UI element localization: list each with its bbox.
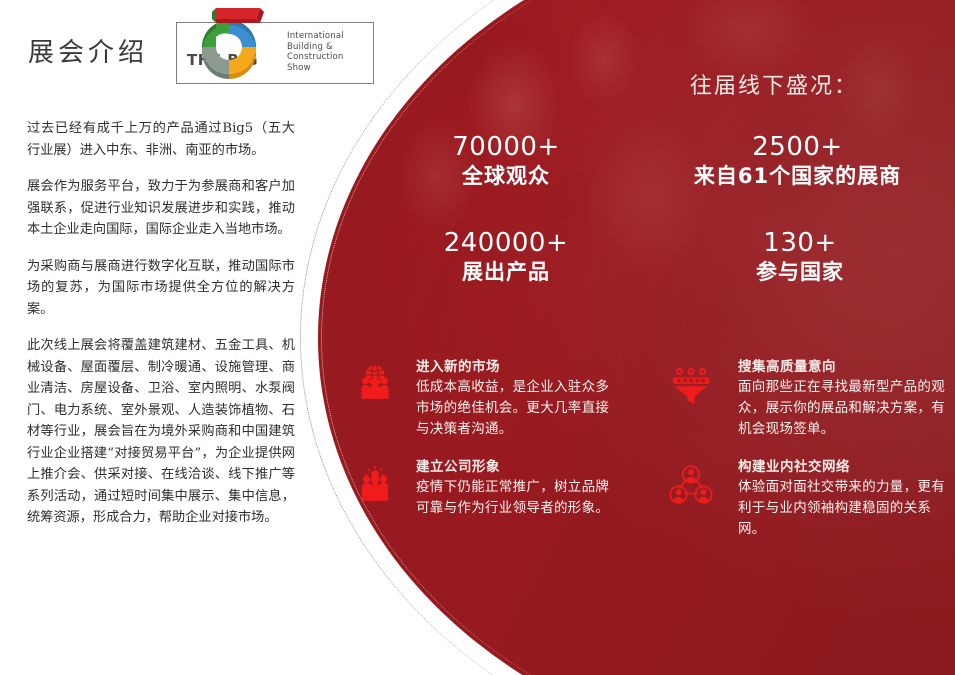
funnel-icon (668, 362, 714, 408)
stat-products: 240000+ 展出产品 (408, 228, 604, 286)
stat-countries: 130+ 参与国家 (660, 228, 940, 286)
stat-label: 参与国家 (660, 258, 940, 286)
stat-number: 240000+ (408, 228, 604, 258)
slide-canvas: 往届线下盛况： 70000+ 全球观众 2500+ 来自61个国家的展商 240… (0, 0, 955, 675)
logo-tagline-line: International (287, 31, 373, 42)
stat-label: 展出产品 (408, 258, 604, 286)
stat-exhibitors: 2500+ 来自61个国家的展商 (640, 132, 955, 190)
benefit-text: 进入新的市场 低成本高收益，是企业入驻众多市场的绝佳机会。更大几率直接与决策者沟… (416, 358, 614, 440)
big5-numeral-logo-icon (186, 4, 272, 84)
intro-body: 过去已经有成千上万的产品通过Big5（五大行业展）进入中东、非洲、南亚的市场。 … (27, 118, 295, 529)
benefit-title: 建立公司形象 (416, 458, 614, 477)
benefit-title: 搜集高质量意向 (738, 358, 954, 377)
benefit-text: 建立公司形象 疫情下仍能正常推广，树立品牌可靠与作为行业领导者的形象。 (416, 458, 614, 519)
benefit-desc: 体验面对面社交带来的力量，更有 利于与业内领袖构建稳固的关系 网。 (738, 477, 954, 540)
benefit-title: 构建业内社交网络 (738, 458, 954, 477)
intro-paragraph: 展会作为服务平台，致力于为参展商和客户加 强联系，促进行业知识发展进步和实践，推… (27, 176, 295, 241)
stat-label: 全球观众 (408, 162, 604, 190)
stat-number: 70000+ (408, 132, 604, 162)
intro-paragraph: 此次线上展会将覆盖建筑建材、五金工具、机械设备、屋面覆层、制冷暖通、设施管理、商… (27, 335, 295, 529)
logo-tagline-line: Building & (287, 42, 373, 53)
logo-tagline-line: Show (287, 63, 373, 74)
logo-tagline: International Building & Construction Sh… (287, 31, 373, 73)
stat-label: 来自61个国家的展商 (640, 162, 955, 190)
benefit-desc: 低成本高收益，是企业入驻众多市场的绝佳机会。更大几率直接与决策者沟通。 (416, 377, 614, 440)
benefit-text: 构建业内社交网络 体验面对面社交带来的力量，更有 利于与业内领袖构建稳固的关系 … (738, 458, 954, 540)
benefit-desc: 面向那些正在寻找最新型产品的观 众，展示你的展品和解决方案，有 机会现场签单。 (738, 377, 954, 440)
benefit-text: 搜集高质量意向 面向那些正在寻找最新型产品的观 众，展示你的展品和解决方案，有 … (738, 358, 954, 440)
intro-paragraph: 为采购商与展商进行数字化互联，推动国际市场的复苏，为国际市场提供全方位的解决方案… (27, 256, 295, 321)
benefit-desc: 疫情下仍能正常推广，树立品牌可靠与作为行业领导者的形象。 (416, 477, 614, 519)
stat-global-visitors: 70000+ 全球观众 (408, 132, 604, 190)
intro-panel: 展会介绍 THE BIG International Building & Co… (0, 0, 400, 675)
page-title: 展会介绍 (28, 32, 148, 69)
benefit-title: 进入新的市场 (416, 358, 614, 377)
logo-tagline-line: Construction (287, 52, 373, 63)
stat-number: 2500+ (640, 132, 955, 162)
social-network-icon (668, 462, 714, 508)
stat-number: 130+ (660, 228, 940, 258)
highlights-heading: 往届线下盛况： (690, 68, 858, 100)
intro-paragraph: 过去已经有成千上万的产品通过Big5（五大行业展）进入中东、非洲、南亚的市场。 (27, 118, 295, 161)
